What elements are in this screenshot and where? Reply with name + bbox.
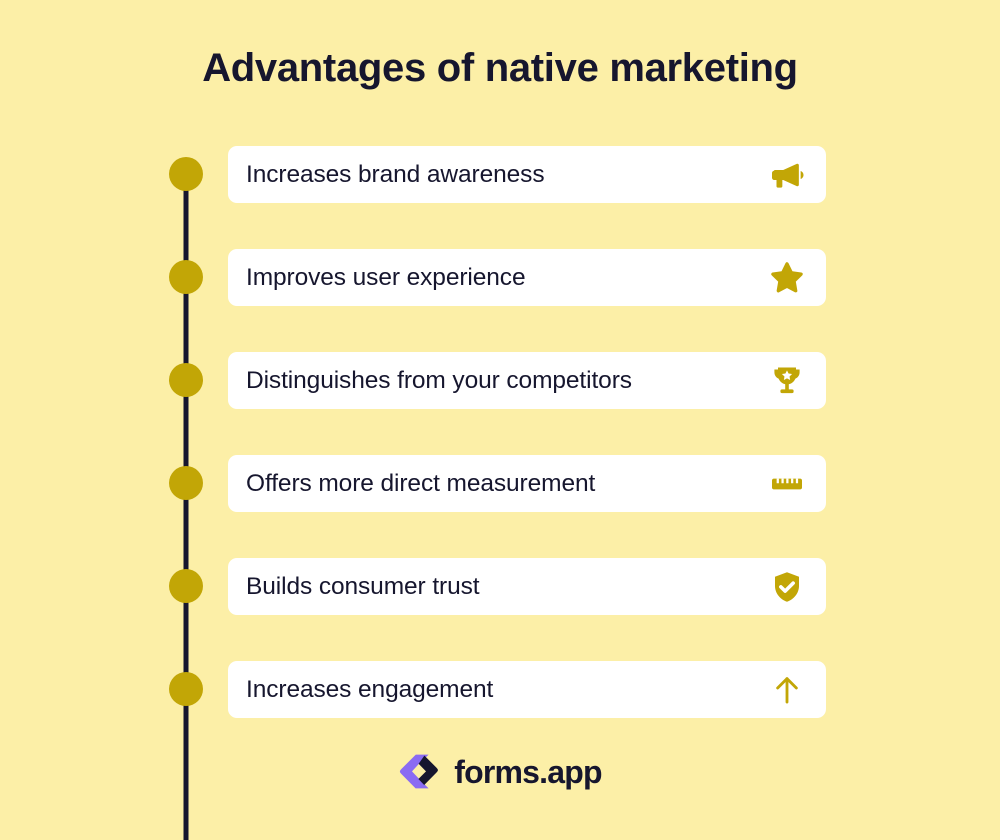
page-title: Advantages of native marketing [0, 46, 1000, 91]
advantage-card[interactable]: Offers more direct measurement [228, 455, 826, 512]
advantage-card[interactable]: Improves user experience [228, 249, 826, 306]
list-item: Distinguishes from your competitors [0, 352, 1000, 409]
forms-app-logo-text: forms.app [454, 754, 602, 791]
list-item: Increases brand awareness [0, 146, 1000, 203]
advantages-list: Increases brand awareness Improves user … [0, 146, 1000, 764]
advantage-label: Builds consumer trust [246, 573, 479, 601]
timeline-dot [169, 569, 203, 603]
advantage-label: Improves user experience [246, 264, 525, 292]
advantage-label: Offers more direct measurement [246, 470, 595, 498]
list-item: Builds consumer trust [0, 558, 1000, 615]
advantage-card[interactable]: Distinguishes from your competitors [228, 352, 826, 409]
forms-app-logo-mark [398, 752, 442, 792]
timeline-dot [169, 260, 203, 294]
advantage-card[interactable]: Builds consumer trust [228, 558, 826, 615]
ruler-icon [768, 465, 806, 503]
arrow-up-icon [768, 671, 806, 709]
infographic-poster: Advantages of native marketing Increases… [0, 0, 1000, 840]
list-item: Offers more direct measurement [0, 455, 1000, 512]
timeline-dot [169, 157, 203, 191]
trophy-icon [768, 362, 806, 400]
timeline-dot [169, 363, 203, 397]
advantage-card[interactable]: Increases engagement [228, 661, 826, 718]
star-icon [768, 259, 806, 297]
forms-app-logo[interactable]: forms.app [0, 752, 1000, 792]
advantage-card[interactable]: Increases brand awareness [228, 146, 826, 203]
advantage-label: Increases brand awareness [246, 161, 544, 189]
timeline-dot [169, 672, 203, 706]
timeline-dot [169, 466, 203, 500]
advantage-label: Increases engagement [246, 676, 493, 704]
list-item: Increases engagement [0, 661, 1000, 718]
advantage-label: Distinguishes from your competitors [246, 367, 632, 395]
shield-check-icon [768, 568, 806, 606]
list-item: Improves user experience [0, 249, 1000, 306]
megaphone-icon [768, 156, 806, 194]
